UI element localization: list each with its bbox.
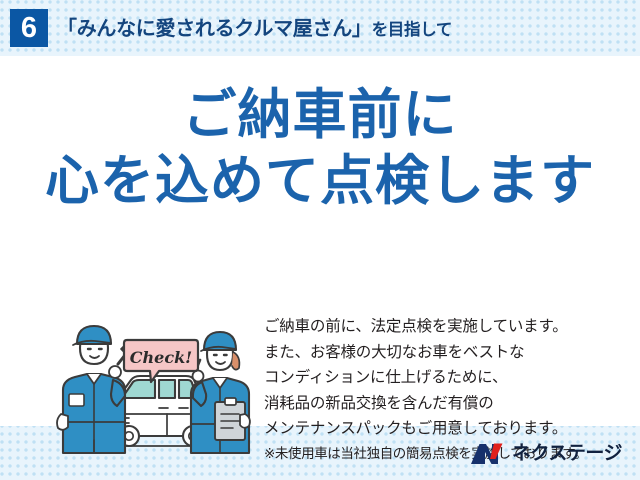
nextage-n-mark-icon [470,442,504,466]
section-number-badge: 6 [10,9,48,47]
content-panel: ご納車前に 心を込めて点検します [0,56,640,426]
page-title: 「みんなに愛されるクルマ屋さん」を目指して [57,14,452,44]
page-header: 6 「みんなに愛されるクルマ屋さん」を目指して [0,0,640,56]
description-line: コンディションに仕上げるために、 [264,365,636,391]
advertisement-page: 6 「みんなに愛されるクルマ屋さん」を目指して ご納車前に 心を込めて点検します [0,0,640,480]
main-heading-line-2: 心を込めて点検します [0,148,640,214]
page-footer: ネクステージ [0,426,640,480]
description-line: ご納車の前に、法定点検を実施しています。 [264,314,636,340]
main-heading-line-1: ご納車前に [0,82,640,148]
main-heading: ご納車前に 心を込めて点検します [0,82,640,214]
brand-logo: ネクステージ [470,440,622,468]
description-line: 消耗品の新品交換を含んだ有償の [264,391,636,417]
brand-name: ネクステージ [512,440,622,468]
description-line: また、お客様の大切なお車をベストな [264,340,636,366]
speech-bubble-text: Check! [130,348,192,367]
page-title-quoted: 「みんなに愛されるクルマ屋さん」 [57,18,372,40]
page-title-suffix: を目指して [372,21,453,39]
